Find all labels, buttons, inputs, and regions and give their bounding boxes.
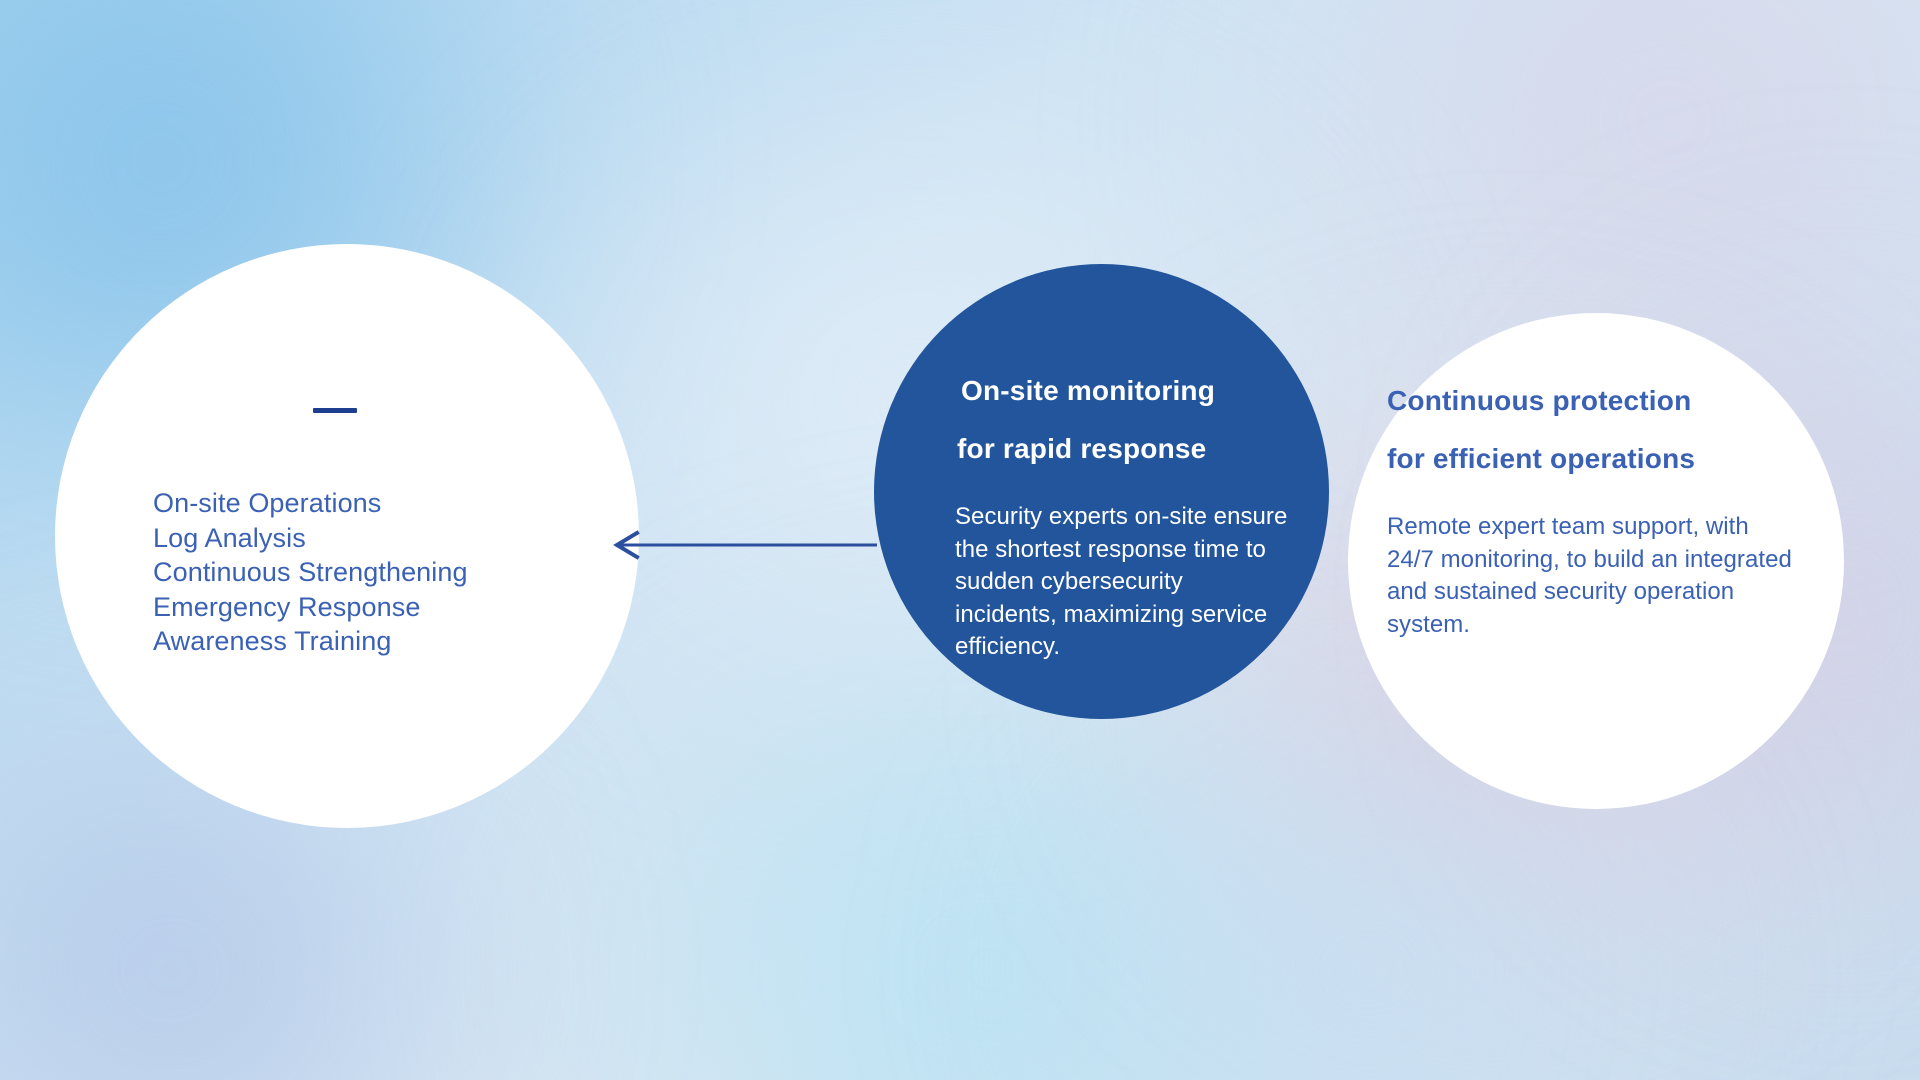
center-circle-content: On-site monitoring for rapid response Se… (955, 362, 1295, 664)
right-circle-content: Continuous protection for efficient oper… (1387, 372, 1807, 641)
left-circle-content: On-site Operations Log Analysis Continuo… (148, 408, 568, 659)
list-item: Awareness Training (153, 624, 568, 659)
list-item: Continuous Strengthening (153, 555, 568, 590)
center-circle-body: Security experts on-site ensure the shor… (955, 501, 1291, 664)
diagram-canvas: On-site Operations Log Analysis Continuo… (0, 0, 1920, 1080)
capability-list: On-site Operations Log Analysis Continuo… (153, 486, 568, 659)
list-item: Log Analysis (153, 521, 568, 556)
list-item: On-site Operations (153, 486, 568, 521)
left-arrow-icon (605, 522, 880, 568)
right-title-line-2: for efficient operations (1387, 430, 1807, 488)
right-circle-body: Remote expert team support, with 24/7 mo… (1387, 511, 1799, 641)
right-circle-title: Continuous protection for efficient oper… (1387, 372, 1807, 488)
center-title-line-1: On-site monitoring (955, 362, 1295, 420)
center-title-line-2: for rapid response (955, 420, 1295, 478)
dash-divider-icon (313, 408, 357, 413)
center-circle-title: On-site monitoring for rapid response (955, 362, 1295, 478)
list-item: Emergency Response (153, 590, 568, 625)
right-title-line-1: Continuous protection (1387, 372, 1807, 430)
